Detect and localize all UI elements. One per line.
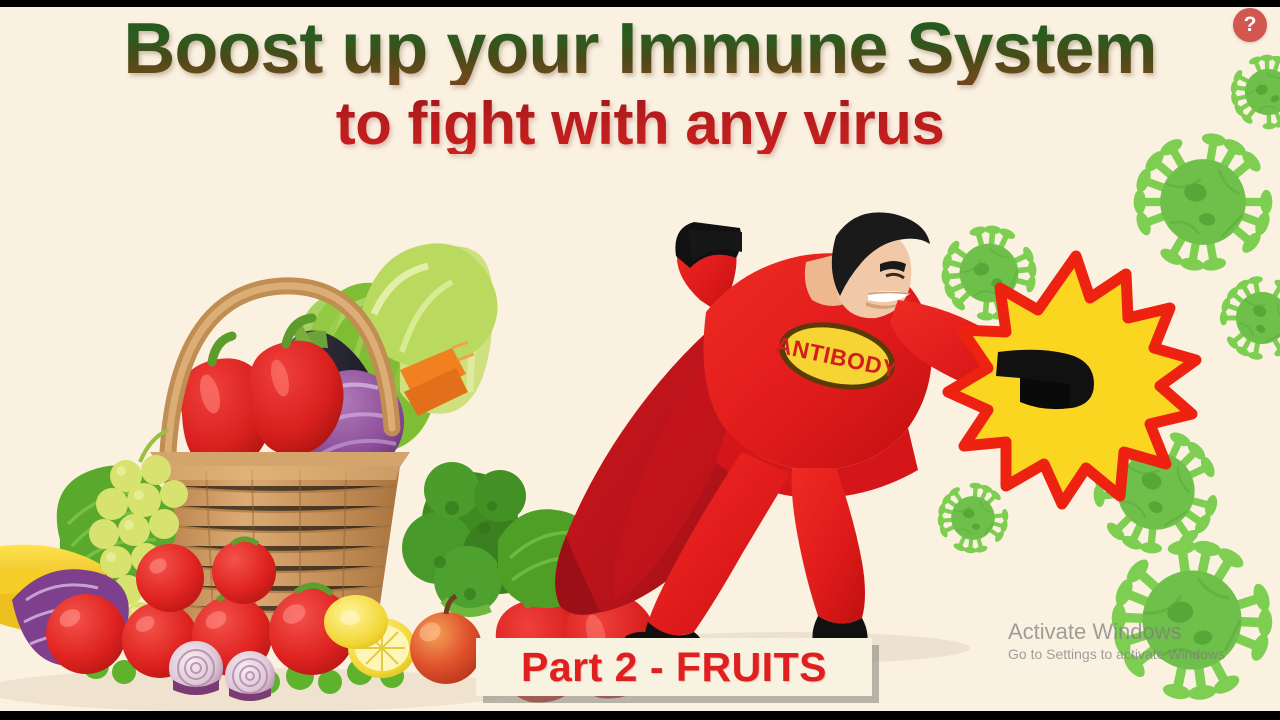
letterbox-bar-top xyxy=(0,0,1280,7)
headline-line2: to fight with any virus xyxy=(0,94,1280,154)
question-mark-icon[interactable]: ? xyxy=(1233,8,1267,42)
part-banner-label: Part 2 - FRUITS xyxy=(521,644,827,691)
part-banner: Part 2 - FRUITS xyxy=(476,638,872,698)
headline-line1: Boost up your Immune System xyxy=(0,14,1280,85)
part-banner-plate: Part 2 - FRUITS xyxy=(476,638,872,696)
letterbox-bar-bottom xyxy=(0,711,1280,720)
video-frame: ANTIBODY xyxy=(0,0,1280,720)
title-block: Boost up your Immune System to fight wit… xyxy=(0,14,1280,154)
